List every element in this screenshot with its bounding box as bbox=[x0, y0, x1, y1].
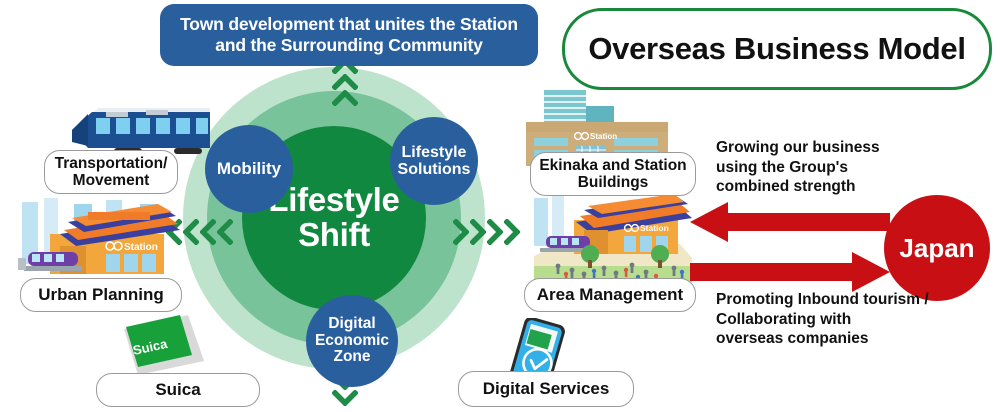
label-transportation-movement[interactable]: Transportation/ Movement bbox=[44, 150, 178, 194]
label-transportation-movement-text: Transportation/ Movement bbox=[51, 155, 171, 190]
label-urban-planning-text: Urban Planning bbox=[38, 285, 164, 304]
chevron-right-icon bbox=[504, 219, 520, 245]
label-ekinaka-station-buildings[interactable]: Ekinaka and Station Buildings bbox=[530, 152, 696, 196]
chevron-right-icon bbox=[487, 219, 503, 245]
label-urban-planning[interactable]: Urban Planning bbox=[20, 278, 182, 312]
mobility-circle[interactable]: Mobility bbox=[205, 125, 293, 213]
mobility-label: Mobility bbox=[217, 160, 281, 178]
label-area-management-text: Area Management bbox=[537, 285, 683, 304]
chevron-left-icon bbox=[200, 219, 216, 245]
svg-text:Station: Station bbox=[590, 132, 617, 141]
town-development-banner-text: Town development that unites the Station… bbox=[168, 14, 530, 56]
chevron-down-icon bbox=[332, 390, 358, 406]
lifestyle-solutions-circle[interactable]: Lifestyle Solutions bbox=[390, 117, 478, 205]
lifestyle-solutions-label: Lifestyle Solutions bbox=[390, 144, 478, 178]
caption-growing-business: Growing our business using the Group's c… bbox=[716, 138, 926, 197]
arrow-left-to-domestic-icon bbox=[690, 200, 890, 249]
chevron-left-icon bbox=[183, 219, 199, 245]
overseas-business-model-diagram: Lifestyle Shift bbox=[0, 0, 1000, 412]
label-ekinaka-text: Ekinaka and Station Buildings bbox=[537, 157, 689, 192]
svg-text:Station: Station bbox=[124, 242, 158, 253]
digital-economic-zone-label: Digital Economic Zone bbox=[306, 316, 398, 366]
chevrons-right bbox=[453, 219, 520, 245]
overseas-business-model-title-text: Overseas Business Model bbox=[588, 31, 965, 67]
svg-text:Station: Station bbox=[640, 223, 669, 233]
label-suica-text: Suica bbox=[155, 380, 200, 399]
label-area-management[interactable]: Area Management bbox=[524, 278, 696, 312]
chevron-up-icon bbox=[332, 74, 358, 90]
station-plaza-icon: Station bbox=[528, 192, 694, 289]
chevron-right-icon bbox=[470, 219, 486, 245]
caption-inbound-tourism: Promoting Inbound tourism / Collaboratin… bbox=[716, 290, 946, 349]
chevron-left-icon bbox=[217, 219, 233, 245]
town-development-banner: Town development that unites the Station… bbox=[160, 4, 538, 66]
japan-circle: Japan bbox=[884, 195, 990, 301]
label-suica[interactable]: Suica bbox=[96, 373, 260, 407]
digital-economic-zone-circle[interactable]: Digital Economic Zone bbox=[306, 295, 398, 387]
chevron-right-icon bbox=[453, 219, 469, 245]
chevron-up-icon bbox=[332, 90, 358, 106]
suica-card-icon: Suica bbox=[118, 313, 210, 382]
japan-label: Japan bbox=[899, 233, 974, 264]
label-digital-services-text: Digital Services bbox=[483, 379, 610, 398]
label-digital-services[interactable]: Digital Services bbox=[458, 371, 634, 407]
overseas-business-model-title: Overseas Business Model bbox=[562, 8, 992, 90]
